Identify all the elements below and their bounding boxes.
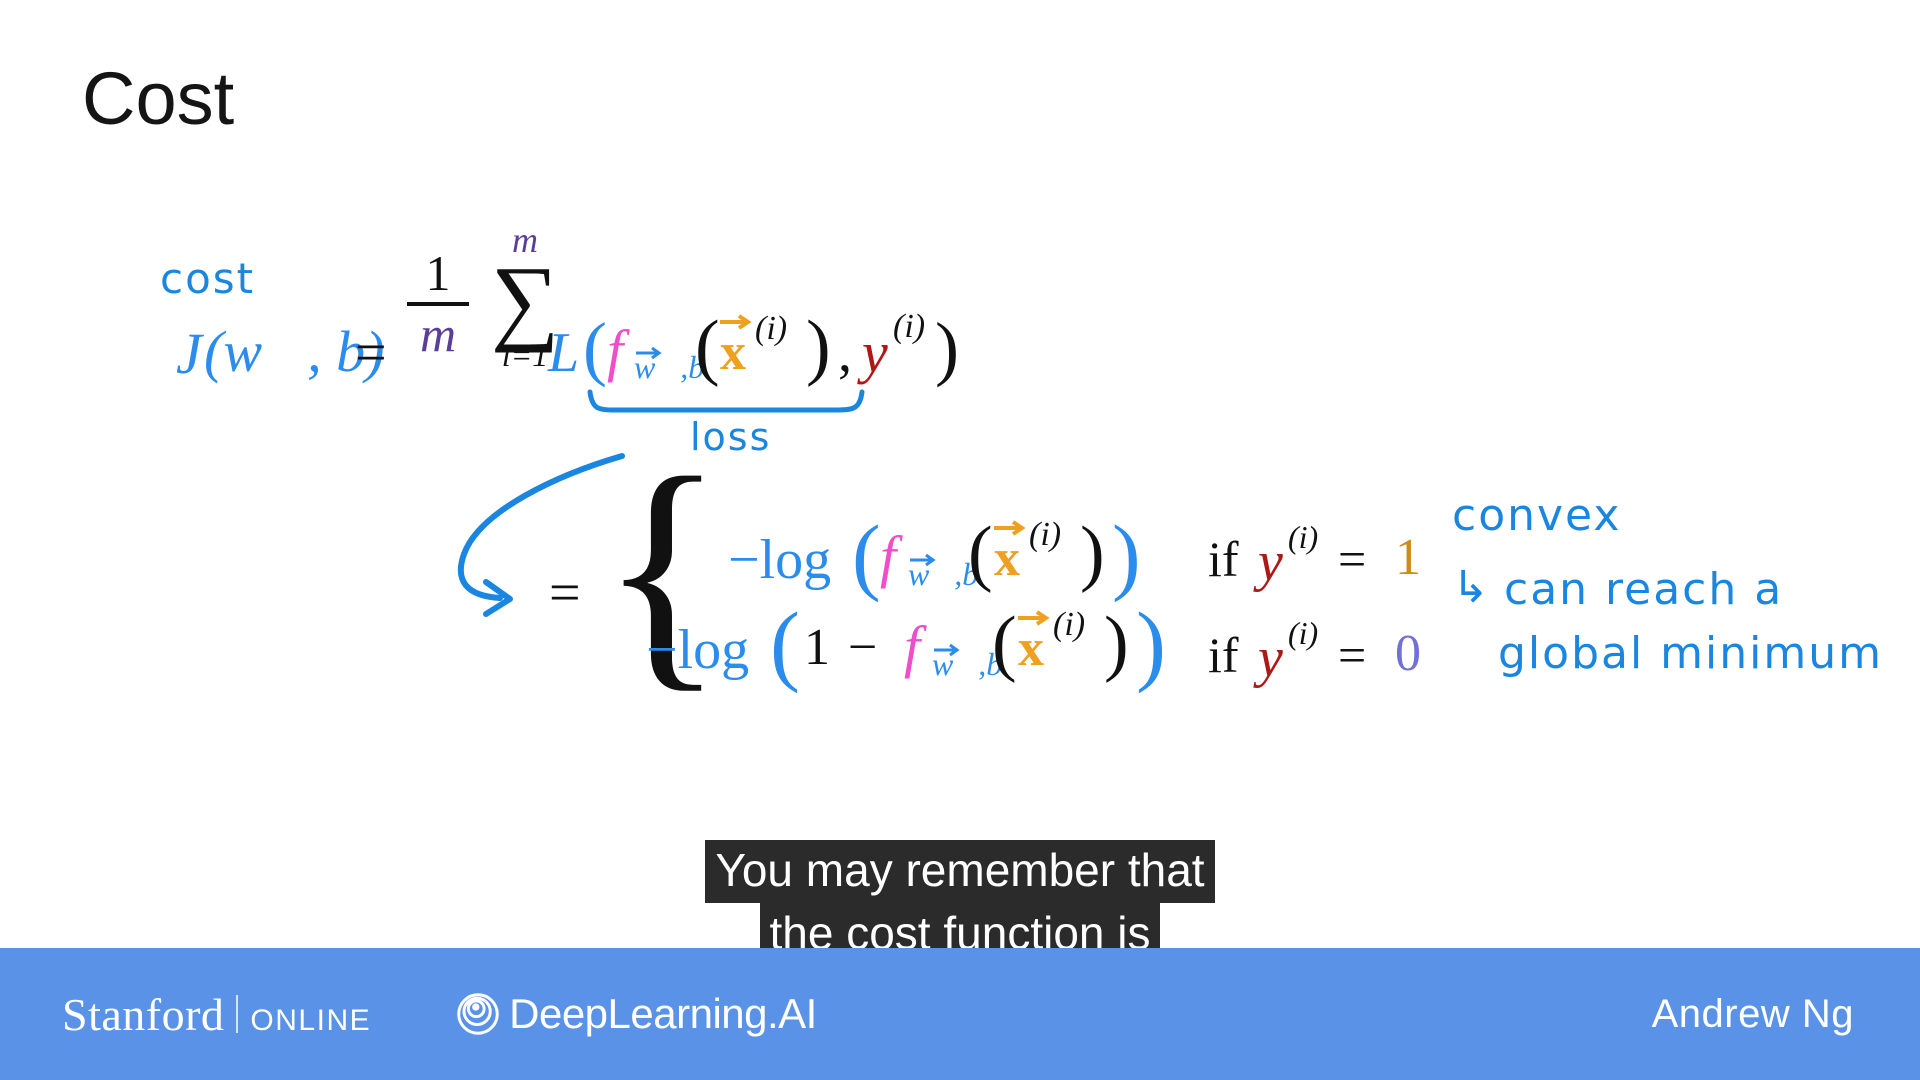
- arg-separator-comma: ,: [838, 325, 852, 381]
- equation-equals: =: [355, 325, 387, 381]
- loss-open-paren: (: [583, 312, 607, 384]
- loss-close-paren: ): [935, 312, 959, 384]
- stanford-divider: [236, 995, 238, 1033]
- row2-neg-log: −log: [646, 622, 749, 678]
- row1-condition-if: if: [1208, 534, 1239, 584]
- row1-condition-equals: =: [1338, 534, 1366, 584]
- x-superscript-index: (i): [755, 312, 787, 346]
- row1-neg-log: −log: [728, 532, 831, 588]
- fraction-one-over-m: 1 m: [405, 248, 471, 359]
- can-reach-annotation-line2: global minimum: [1498, 632, 1883, 676]
- row1-condition-y: y: [1258, 534, 1283, 590]
- row2-x-superscript: (i): [1053, 608, 1085, 642]
- row2-condition-equals: =: [1338, 630, 1366, 680]
- row1-model-f: f: [880, 528, 896, 586]
- deeplearning-spiral-icon: [457, 993, 499, 1035]
- stanford-online-logo: Stanford ONLINE: [62, 988, 371, 1041]
- presenter-name: Andrew Ng: [1652, 992, 1854, 1037]
- y-superscript-index: (i): [893, 310, 925, 344]
- row2-close-paren: ): [1136, 600, 1166, 690]
- model-inner-open-paren: (: [695, 310, 720, 384]
- fraction-numerator: 1: [405, 248, 471, 298]
- row2-condition-y: y: [1258, 630, 1283, 686]
- piecewise-equals: =: [549, 565, 581, 621]
- stanford-wordmark: Stanford: [62, 988, 224, 1041]
- footer-bar: Stanford ONLINE DeepLearning.AI Andrew N…: [0, 948, 1920, 1080]
- row2-condition-y-superscript: (i): [1288, 617, 1318, 649]
- equation-canvas: cost J (w⃗, b) = 1 m m ∑ i=1 L ( f w⃗,b …: [0, 0, 1920, 820]
- row1-x-superscript: (i): [1029, 518, 1061, 552]
- row1-open-paren: (: [852, 512, 881, 598]
- row2-open-paren: (: [770, 600, 800, 690]
- row2-model-f: f: [904, 618, 920, 676]
- row2-inner-close-paren: ): [1104, 606, 1129, 680]
- row2-one: 1: [804, 622, 830, 674]
- row1-inner-close-paren: ): [1080, 516, 1105, 590]
- model-f-symbol: f: [607, 322, 623, 380]
- row1-condition-value: 1: [1395, 532, 1421, 584]
- row1-close-paren: ): [1112, 512, 1141, 598]
- convex-annotation: convex: [1452, 494, 1621, 538]
- stanford-online-wordmark: ONLINE: [250, 1004, 371, 1038]
- row1-inner-open-paren: (: [968, 516, 993, 590]
- caption-line-1: You may remember that: [705, 840, 1214, 903]
- deeplearning-wordmark: DeepLearning.AI: [509, 990, 817, 1038]
- row2-condition-if: if: [1208, 630, 1239, 680]
- reach-arrow-icon: ↳: [1452, 566, 1491, 610]
- caption-line-1-row: You may remember that: [0, 840, 1920, 903]
- loss-symbol-L: L: [548, 325, 579, 381]
- row1-condition-y-superscript: (i): [1288, 521, 1318, 553]
- cost-annotation: cost: [160, 258, 255, 300]
- deeplearning-ai-logo: DeepLearning.AI: [457, 990, 817, 1038]
- model-f-subscript: w⃗,b: [634, 351, 704, 383]
- cost-function-symbol: J: [176, 325, 202, 383]
- fraction-denominator: m: [405, 309, 471, 359]
- row2-inner-open-paren: (: [992, 606, 1017, 680]
- y-label-symbol: y: [862, 324, 888, 382]
- can-reach-annotation-line1: can reach a: [1504, 568, 1783, 612]
- model-inner-close-paren: ): [806, 310, 831, 384]
- row2-condition-value: 0: [1395, 628, 1421, 680]
- row2-minus: −: [848, 622, 877, 674]
